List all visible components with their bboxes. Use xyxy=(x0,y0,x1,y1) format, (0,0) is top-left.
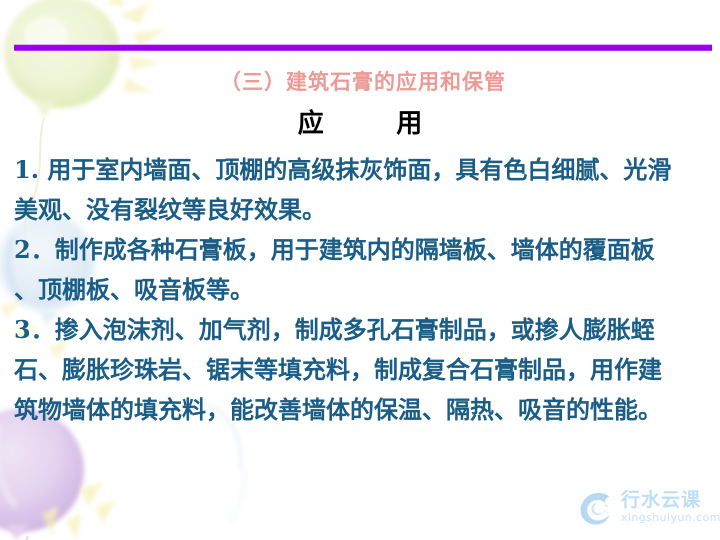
body-line: 、顶棚板、吸音板等。 xyxy=(14,270,708,310)
header-divider-rule xyxy=(14,44,712,51)
watermark-brand-cn: 行水云课 xyxy=(621,490,720,511)
watermark-text-group: 行水云课 xingshuiyun.com xyxy=(621,490,720,524)
watermark-brand-url: xingshuiyun.com xyxy=(621,511,720,524)
sunburst-rays-bottom xyxy=(42,482,116,540)
body-line: 2．制作成各种石膏板，用于建筑内的隔墙板、墙体的覆面板 xyxy=(14,230,708,270)
body-line: 美观、没有裂纹等良好效果。 xyxy=(14,190,708,230)
slide-body-text: 1. 用于室内墙面、顶棚的高级抹灰饰面，具有色白细腻、光滑 美观、没有裂纹等良好… xyxy=(14,150,708,430)
slide-title-main: （三）建筑石膏的应用和保管 xyxy=(0,66,720,96)
body-line: 1. 用于室内墙面、顶棚的高级抹灰饰面，具有色白细腻、光滑 xyxy=(14,150,708,190)
body-line: 石、膨胀珍珠岩、锯末等填充料，制成复合石膏制品，用作建 xyxy=(14,350,708,390)
slide-canvas: （三）建筑石膏的应用和保管 应 用 1. 用于室内墙面、顶棚的高级抹灰饰面，具有… xyxy=(0,0,720,540)
body-line: 筑物墙体的填充料，能改善墙体的保温、隔热、吸音的性能。 xyxy=(14,390,708,430)
slide-title-sub: 应 用 xyxy=(0,103,720,140)
wave-spiral-icon xyxy=(575,486,617,528)
watermark-logo: 行水云课 xingshuiyun.com xyxy=(575,483,710,531)
body-line: 3．掺入泡沫剂、加气剂，制成多孔石膏制品，或掺人膨胀蛭 xyxy=(14,310,708,350)
